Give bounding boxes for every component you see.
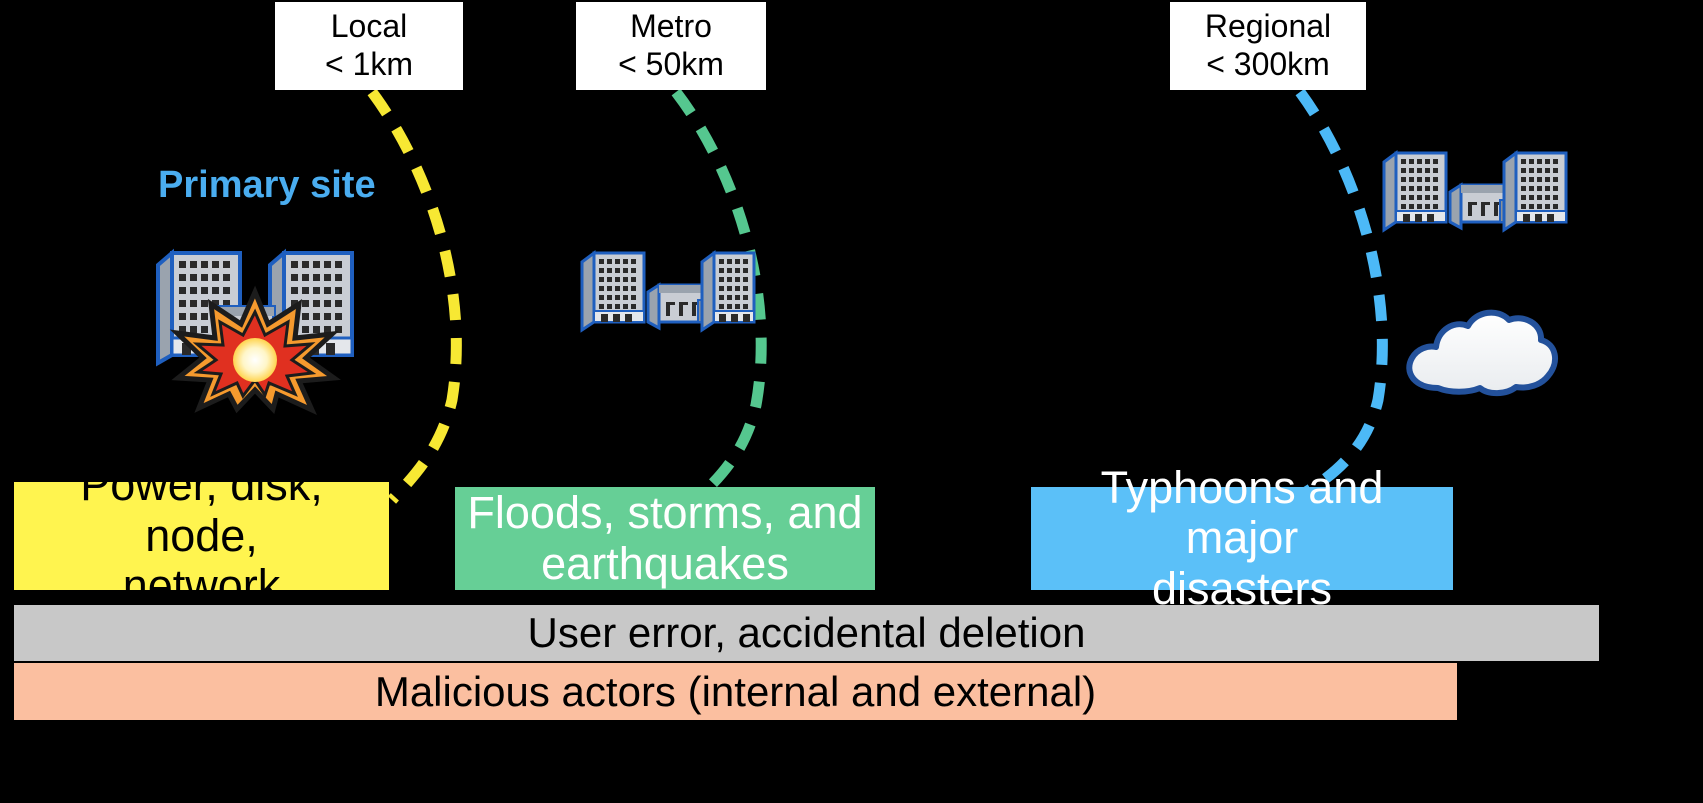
category-box-local: Power, disk, node, network (14, 482, 389, 590)
regional-buildings-group (1382, 150, 1572, 240)
category-local-line1: Power, disk, node, (24, 460, 379, 561)
scope-label-metro: Metro < 50km (576, 2, 766, 90)
scope-label-local-line1: Local (331, 8, 408, 46)
category-regional-line1: Typhoons and major (1041, 463, 1443, 564)
scope-label-local: Local < 1km (275, 2, 463, 90)
scope-label-metro-line1: Metro (630, 8, 712, 46)
building-icon (582, 253, 644, 330)
malicious-actors-bar-text: Malicious actors (internal and external) (375, 668, 1096, 716)
category-box-metro: Floods, storms, and earthquakes (455, 487, 875, 590)
scope-label-regional-line2: < 300km (1206, 46, 1330, 84)
arc-regional (1296, 92, 1382, 498)
disaster-scope-diagram: Local < 1km Metro < 50km Regional < 300k… (0, 0, 1703, 803)
category-box-regional: Typhoons and major disasters (1031, 487, 1453, 590)
scope-label-regional-line1: Regional (1205, 8, 1331, 46)
building-icon (1504, 153, 1566, 230)
explosion-core (233, 338, 277, 382)
scope-label-regional: Regional < 300km (1170, 2, 1366, 90)
user-error-bar: User error, accidental deletion (14, 605, 1599, 661)
building-icon (1384, 153, 1446, 230)
cloud-icon (1398, 300, 1563, 400)
scope-label-local-line2: < 1km (325, 46, 413, 84)
metro-buildings-group (580, 250, 755, 340)
malicious-actors-bar: Malicious actors (internal and external) (14, 663, 1457, 720)
primary-site-label: Primary site (158, 164, 376, 207)
building-icon (702, 253, 754, 330)
category-metro-line1: Floods, storms, and (467, 488, 862, 538)
user-error-bar-text: User error, accidental deletion (528, 609, 1086, 657)
scope-label-metro-line2: < 50km (618, 46, 724, 84)
category-metro-line2: earthquakes (467, 539, 862, 589)
explosion-icon (175, 290, 335, 410)
arc-local (372, 92, 456, 500)
